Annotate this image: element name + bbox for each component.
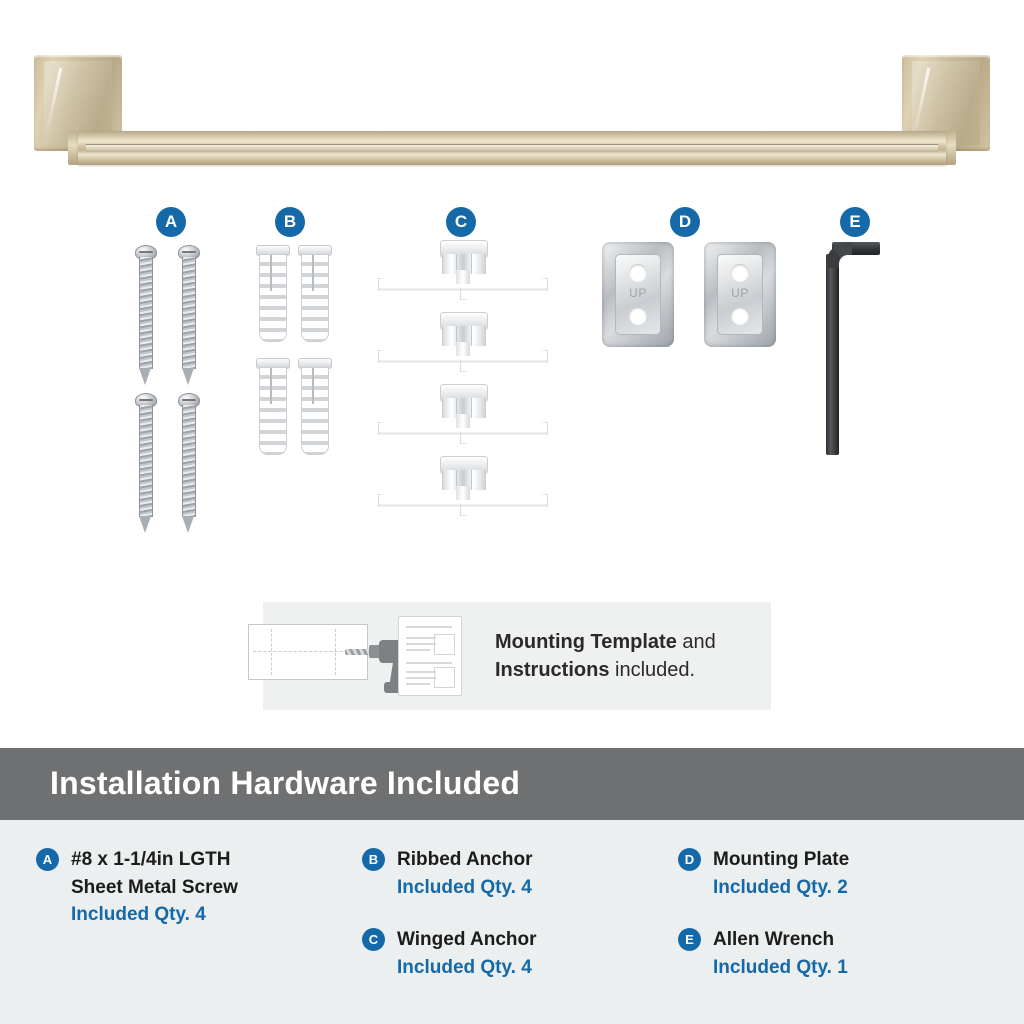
legend-qty-d: Included Qty. 2 xyxy=(713,874,849,902)
anchor-body xyxy=(301,367,329,455)
anchor-slit xyxy=(312,255,314,291)
legend-name-d: Mounting Plate xyxy=(713,846,849,874)
hardware-badge-a: A xyxy=(156,207,186,237)
mounting-template-panel: Mounting Template and Instructions inclu… xyxy=(263,602,771,710)
ribbed-anchor-item xyxy=(298,358,330,458)
instructions-document-icon xyxy=(398,616,462,696)
wrench-long-arm xyxy=(826,254,839,455)
legend-badge-e: E xyxy=(678,928,701,951)
towel-bar-product xyxy=(34,55,990,165)
mounting-template-text: Mounting Template and Instructions inclu… xyxy=(495,628,761,685)
doc-line xyxy=(406,637,436,639)
legend-qty-e: Included Qty. 1 xyxy=(713,954,848,982)
wing-fin-right xyxy=(460,350,548,372)
allen-wrench-item xyxy=(808,240,880,455)
hardware-badge-b: B xyxy=(275,207,305,237)
template-bold-1: Mounting Template xyxy=(495,631,677,653)
template-rest-2: included. xyxy=(609,659,695,681)
screw-item xyxy=(135,393,155,533)
legend-name-a-line1: #8 x 1-1/4in LGTH xyxy=(71,846,238,874)
screw-tip xyxy=(182,516,194,533)
doc-box xyxy=(434,667,455,688)
wing-stem xyxy=(456,270,470,284)
legend-qty-a: Included Qty. 4 xyxy=(71,901,238,929)
legend-item-c: C Winged Anchor Included Qty. 4 xyxy=(362,926,662,981)
anchor-body xyxy=(259,367,287,455)
mounting-plate-item: UP xyxy=(602,242,674,347)
template-rest-1: and xyxy=(677,631,716,653)
winged-anchor-item xyxy=(378,456,548,518)
wing-fin-left xyxy=(378,278,466,300)
legend-qty-c: Included Qty. 4 xyxy=(397,954,537,982)
wing-stem xyxy=(456,342,470,356)
template-guide-line xyxy=(271,629,272,675)
anchor-slit xyxy=(312,368,314,404)
doc-line xyxy=(406,677,436,679)
legend-text-d: Mounting Plate Included Qty. 2 xyxy=(713,846,849,901)
hardware-badge-c: C xyxy=(446,207,476,237)
legend-text-b: Ribbed Anchor Included Qty. 4 xyxy=(397,846,532,901)
legend-item-a: A #8 x 1-1/4in LGTH Sheet Metal Screw In… xyxy=(36,846,336,929)
legend-badge-c: C xyxy=(362,928,385,951)
legend-text-a: #8 x 1-1/4in LGTH Sheet Metal Screw Incl… xyxy=(71,846,238,929)
plate-hole-top xyxy=(731,264,749,282)
badge-letter-e: E xyxy=(840,207,870,237)
wing-fin-left xyxy=(378,494,466,516)
legend-name-c: Winged Anchor xyxy=(397,926,537,954)
legend-qty-b: Included Qty. 4 xyxy=(397,874,532,902)
badge-letter-b: B xyxy=(275,207,305,237)
doc-line xyxy=(406,643,436,645)
badge-letter-c: C xyxy=(446,207,476,237)
legend-name-b: Ribbed Anchor xyxy=(397,846,532,874)
badge-letter-a: A xyxy=(156,207,186,237)
legend-item-e: E Allen Wrench Included Qty. 1 xyxy=(678,926,978,981)
anchor-slit xyxy=(270,255,272,291)
doc-box xyxy=(434,634,455,655)
wing-fin-left xyxy=(378,350,466,372)
screw-shaft xyxy=(139,405,153,517)
plate-up-arrow-icon: UP xyxy=(602,286,674,300)
wing-stem xyxy=(456,414,470,428)
legend-badge-a: A xyxy=(36,848,59,871)
winged-anchor-item xyxy=(378,240,548,302)
screw-shaft xyxy=(182,257,196,369)
towel-bar-rail xyxy=(78,131,946,165)
hardware-illustrations: A B C D UP xyxy=(0,190,1024,590)
mounting-plate-item: UP xyxy=(704,242,776,347)
hardware-badge-d: D xyxy=(670,207,700,237)
rail-groove xyxy=(86,144,938,152)
doc-line xyxy=(406,649,430,651)
screw-item xyxy=(178,245,198,385)
anchor-body xyxy=(259,254,287,342)
screw-item xyxy=(135,245,155,385)
screw-tip xyxy=(139,368,151,385)
legend-name-e: Allen Wrench xyxy=(713,926,848,954)
winged-anchor-item xyxy=(378,312,548,374)
header-title: Installation Hardware Included xyxy=(50,765,520,802)
screw-shaft xyxy=(182,405,196,517)
product-image-area xyxy=(0,0,1024,190)
legend-text-e: Allen Wrench Included Qty. 1 xyxy=(713,926,848,981)
wing-fin-right xyxy=(460,494,548,516)
screw-shaft xyxy=(139,257,153,369)
wing-stem xyxy=(456,486,470,500)
hardware-badge-e: E xyxy=(840,207,870,237)
plate-hole-top xyxy=(629,264,647,282)
doc-line xyxy=(406,626,452,628)
badge-letter-d: D xyxy=(670,207,700,237)
anchor-slit xyxy=(270,368,272,404)
legend-item-b: B Ribbed Anchor Included Qty. 4 xyxy=(362,846,662,901)
installation-hardware-header: Installation Hardware Included xyxy=(0,748,1024,820)
legend-badge-d: D xyxy=(678,848,701,871)
legend-item-d: D Mounting Plate Included Qty. 2 xyxy=(678,846,978,901)
template-guide-line xyxy=(335,629,336,675)
legend-text-c: Winged Anchor Included Qty. 4 xyxy=(397,926,537,981)
legend-name-a-line2: Sheet Metal Screw xyxy=(71,874,238,902)
template-bold-2: Instructions xyxy=(495,659,609,681)
template-text-line2: Instructions included. xyxy=(495,656,761,684)
wrench-elbow xyxy=(826,242,852,268)
wing-fin-left xyxy=(378,422,466,444)
ribbed-anchor-item xyxy=(256,358,288,458)
doc-line xyxy=(406,683,430,685)
screw-tip xyxy=(182,368,194,385)
winged-anchor-item xyxy=(378,384,548,446)
plate-up-arrow-icon: UP xyxy=(704,286,776,300)
wing-fin-right xyxy=(460,422,548,444)
wing-fin-right xyxy=(460,278,548,300)
screw-tip xyxy=(139,516,151,533)
legend-badge-b: B xyxy=(362,848,385,871)
ribbed-anchor-item xyxy=(256,245,288,345)
screw-item xyxy=(178,393,198,533)
plate-hole-bottom xyxy=(629,307,647,325)
hardware-legend: A #8 x 1-1/4in LGTH Sheet Metal Screw In… xyxy=(0,820,1024,1024)
doc-line xyxy=(406,662,452,664)
ribbed-anchor-item xyxy=(298,245,330,345)
doc-line xyxy=(406,671,436,673)
anchor-body xyxy=(301,254,329,342)
plate-hole-bottom xyxy=(731,307,749,325)
template-text-line1: Mounting Template and xyxy=(495,628,761,656)
